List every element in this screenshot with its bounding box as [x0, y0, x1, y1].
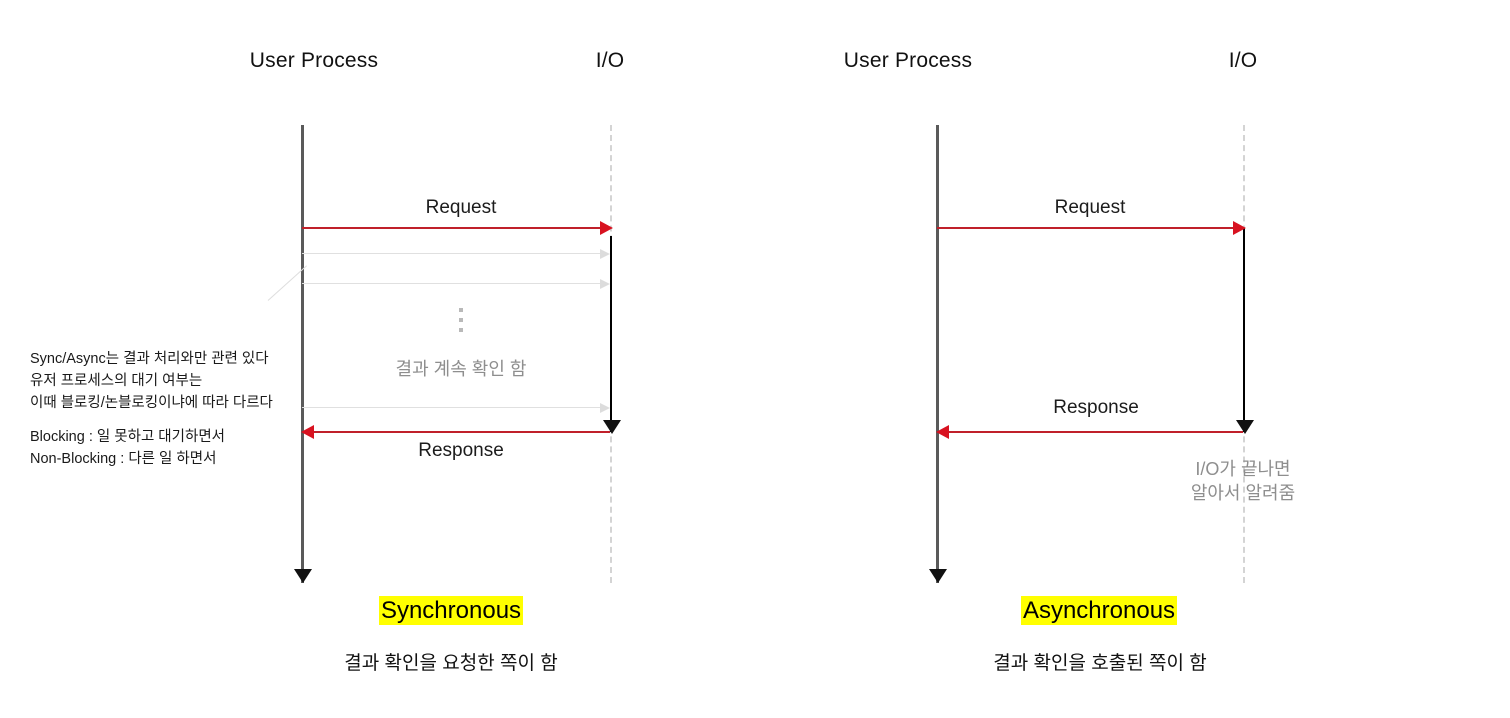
async-io-note-line-2: 알아서 알려줌 [1143, 481, 1343, 505]
sync-request-arrow [302, 227, 610, 229]
sync-user-process-lifeline-arrowhead [294, 569, 312, 583]
sync-polling-arrow-2 [302, 283, 607, 284]
sync-io-header: I/O [560, 49, 660, 73]
annotation-line-1: Sync/Async는 결과 처리와만 관련 있다 [30, 349, 273, 371]
sync-response-label: Response [361, 440, 561, 462]
sync-polling-arrow-1 [302, 253, 607, 254]
async-response-label: Response [996, 397, 1196, 419]
async-io-activation-bar [1243, 228, 1245, 432]
sync-caption: 결과 확인을 요청한 쪽이 함 [301, 648, 601, 675]
sync-response-arrow [310, 431, 610, 433]
sync-polling-arrowhead-2 [600, 279, 610, 289]
sync-request-arrowhead [600, 221, 613, 235]
async-user-process-lifeline-arrowhead [929, 569, 947, 583]
sync-polling-note: 결과 계속 확인 함 [361, 357, 561, 381]
async-user-process-lifeline [936, 125, 939, 583]
annotation-line-2: 유저 프로세스의 대기 여부는 [30, 371, 273, 393]
async-response-arrow [945, 431, 1243, 433]
async-io-header: I/O [1193, 49, 1293, 73]
async-io-note-line-1: I/O가 끝나면 [1143, 457, 1343, 481]
annotation-line-4: Blocking : 일 못하고 대기하면서 [30, 427, 273, 449]
annotation-line-5: Non-Blocking : 다른 일 하면서 [30, 449, 273, 471]
sync-io-activation-bar [610, 236, 612, 432]
sync-user-process-header: User Process [214, 49, 414, 73]
async-user-process-header: User Process [808, 49, 1008, 73]
async-request-label: Request [990, 197, 1190, 219]
asynchronous-diagram-panel: User Process I/O Request Response I/O가 끝… [760, 0, 1510, 718]
async-caption: 결과 확인을 호출된 쪽이 함 [940, 648, 1260, 675]
sync-polling-arrowhead-1 [600, 249, 610, 259]
async-request-arrow [937, 227, 1243, 229]
sync-polling-arrowhead-3 [600, 403, 610, 413]
sync-title: Synchronous [321, 597, 581, 625]
sync-request-label: Request [361, 197, 561, 219]
sync-async-annotation: Sync/Async는 결과 처리와만 관련 있다 유저 프로세스의 대기 여부… [30, 349, 273, 471]
async-response-arrowhead [936, 425, 949, 439]
async-request-arrowhead [1233, 221, 1246, 235]
async-io-note: I/O가 끝나면 알아서 알려줌 [1143, 457, 1343, 506]
sync-user-process-lifeline [301, 125, 304, 583]
sync-response-arrowhead [301, 425, 314, 439]
sync-polling-arrow-3 [302, 407, 607, 408]
sync-ellipsis-dots [459, 308, 463, 332]
async-title: Asynchronous [964, 597, 1234, 625]
annotation-line-3: 이때 블로킹/논블로킹이냐에 따라 다르다 [30, 393, 273, 415]
